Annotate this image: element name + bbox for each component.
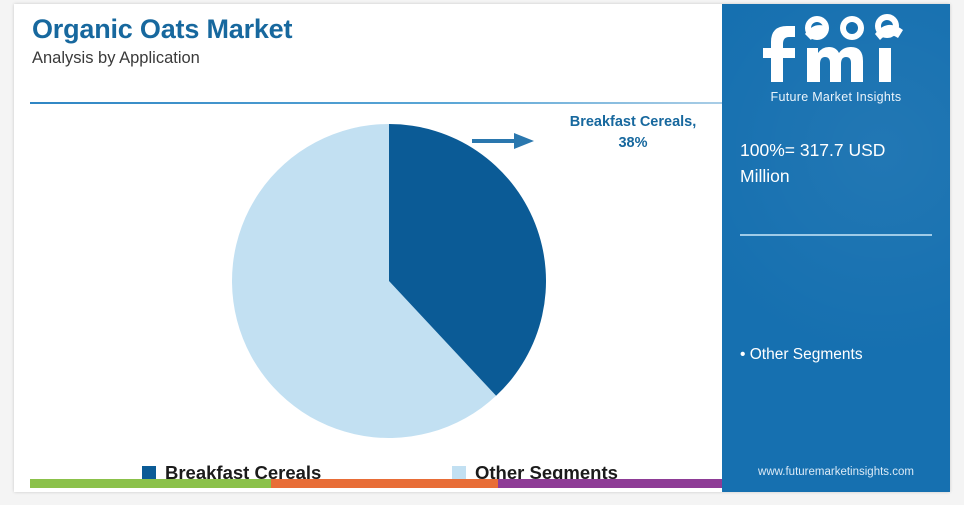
page-subtitle: Analysis by Application (32, 49, 722, 69)
panel-website-url[interactable]: www.futuremarketinsights.com (722, 466, 950, 478)
side-panel: Future Market Insights 100%= 317.7 USD M… (722, 4, 950, 492)
panel-divider (740, 234, 932, 236)
callout-label: Breakfast Cereals, 38% (538, 112, 728, 154)
stripe-segment-green (30, 479, 271, 488)
header-divider (30, 102, 722, 104)
header: Organic Oats Market Analysis by Applicat… (32, 14, 722, 69)
fmi-logo-tagline: Future Market Insights (722, 90, 950, 104)
panel-bullet-other-segments: • Other Segments (740, 346, 940, 364)
accent-stripe (30, 479, 736, 488)
callout-line-1: Breakfast Cereals, (538, 112, 728, 133)
fmi-logo-icon (751, 12, 921, 88)
pie-svg (232, 124, 546, 438)
page-title: Organic Oats Market (32, 14, 722, 46)
stripe-segment-orange (271, 479, 498, 488)
legend-swatch-icon (452, 466, 466, 480)
pie-chart (232, 124, 546, 438)
fmi-logo: Future Market Insights (722, 12, 950, 104)
callout-arrow-icon (472, 130, 536, 152)
chart-infographic: Organic Oats Market Analysis by Applicat… (0, 0, 964, 505)
stripe-segment-purple (498, 479, 736, 488)
legend-swatch-icon (142, 466, 156, 480)
callout-line-2: 38% (538, 133, 728, 154)
panel-total-value: 100%= 317.7 USD Million (740, 138, 932, 190)
